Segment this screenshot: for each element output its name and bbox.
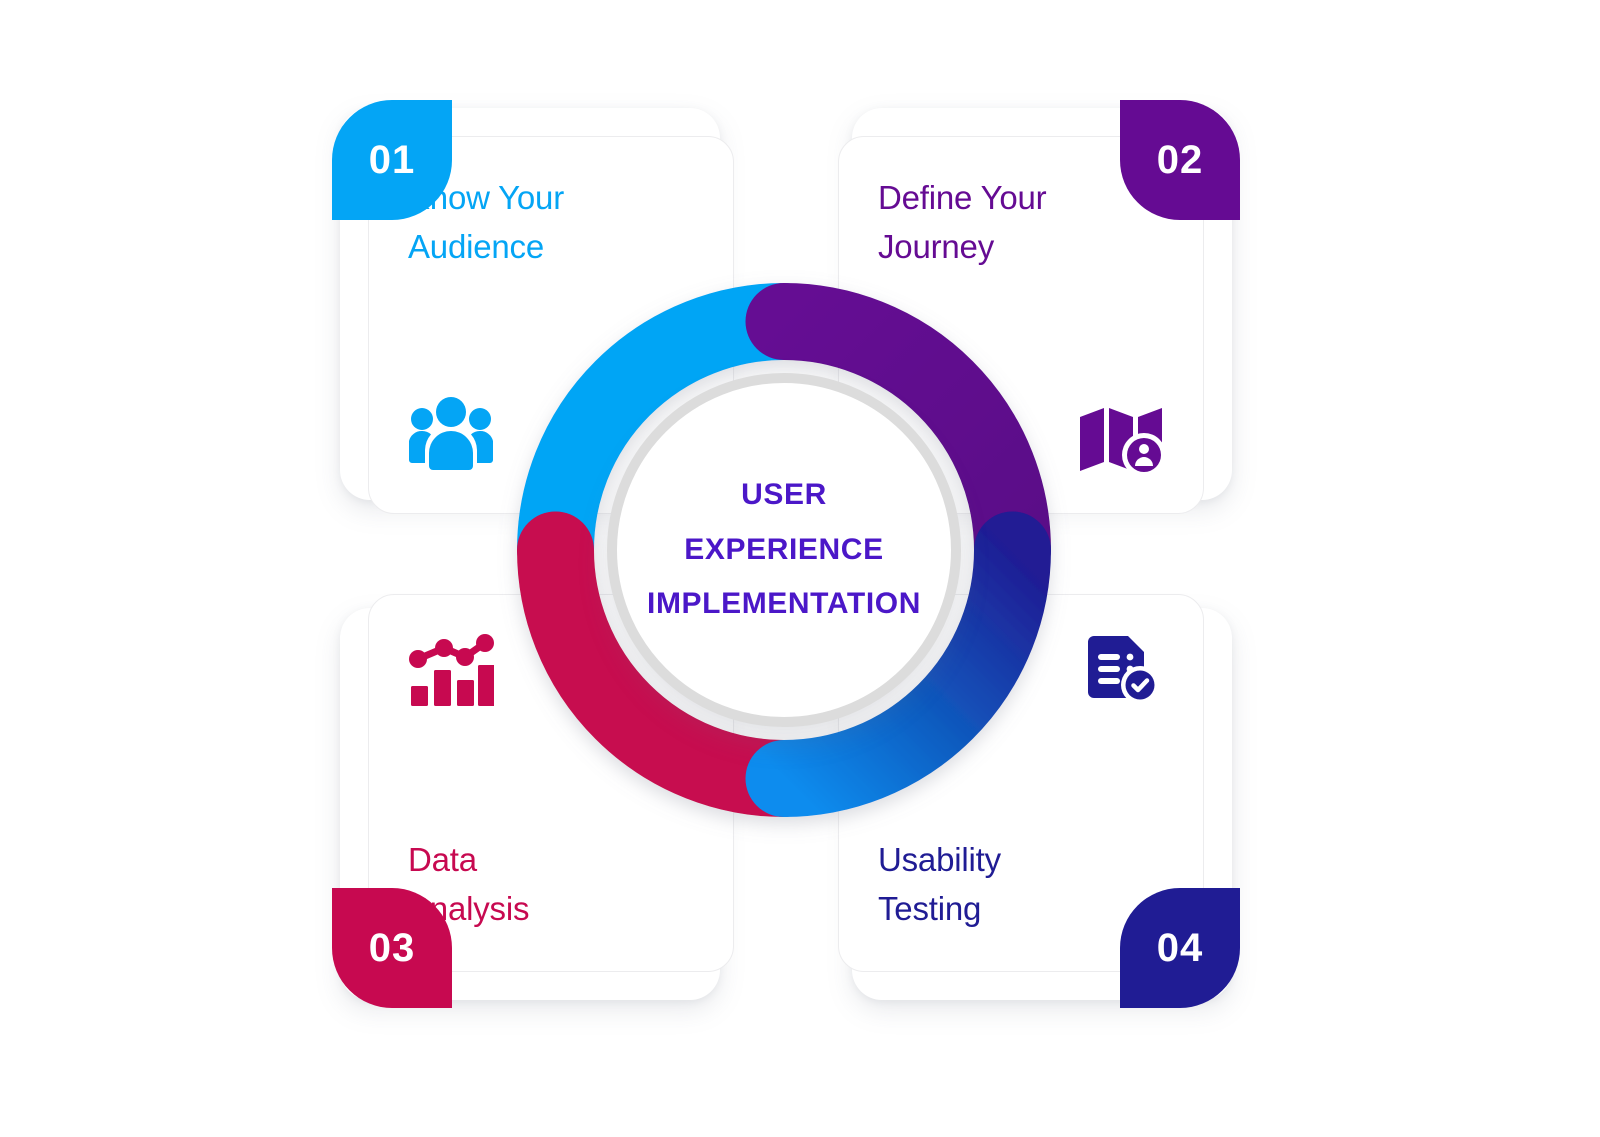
card-title-02: Define Your Journey (878, 174, 1164, 272)
bar-chart-trend-icon (408, 632, 494, 708)
step-number-01: 01 (369, 138, 416, 183)
center-hub: USER EXPERIENCE IMPLEMENTATION (607, 373, 961, 727)
step-number-03: 03 (369, 926, 416, 971)
card-title-03: Data Analysis (408, 836, 694, 934)
step-number-badge-03: 03 (332, 888, 452, 1008)
card-title-01: Know Your Audience (408, 174, 694, 272)
infographic-canvas: Know Your Audience 01 Define Your Journe… (0, 0, 1600, 1137)
step-number-04: 04 (1157, 926, 1204, 971)
document-check-icon (1078, 632, 1164, 708)
step-number-badge-01: 01 (332, 100, 452, 220)
step-number-02: 02 (1157, 138, 1204, 183)
map-location-icon (1078, 400, 1164, 476)
step-number-badge-02: 02 (1120, 100, 1240, 220)
people-group-icon (408, 395, 494, 471)
center-title: USER EXPERIENCE IMPLEMENTATION (647, 468, 921, 632)
step-number-badge-04: 04 (1120, 888, 1240, 1008)
card-title-04: Usability Testing (878, 836, 1164, 934)
